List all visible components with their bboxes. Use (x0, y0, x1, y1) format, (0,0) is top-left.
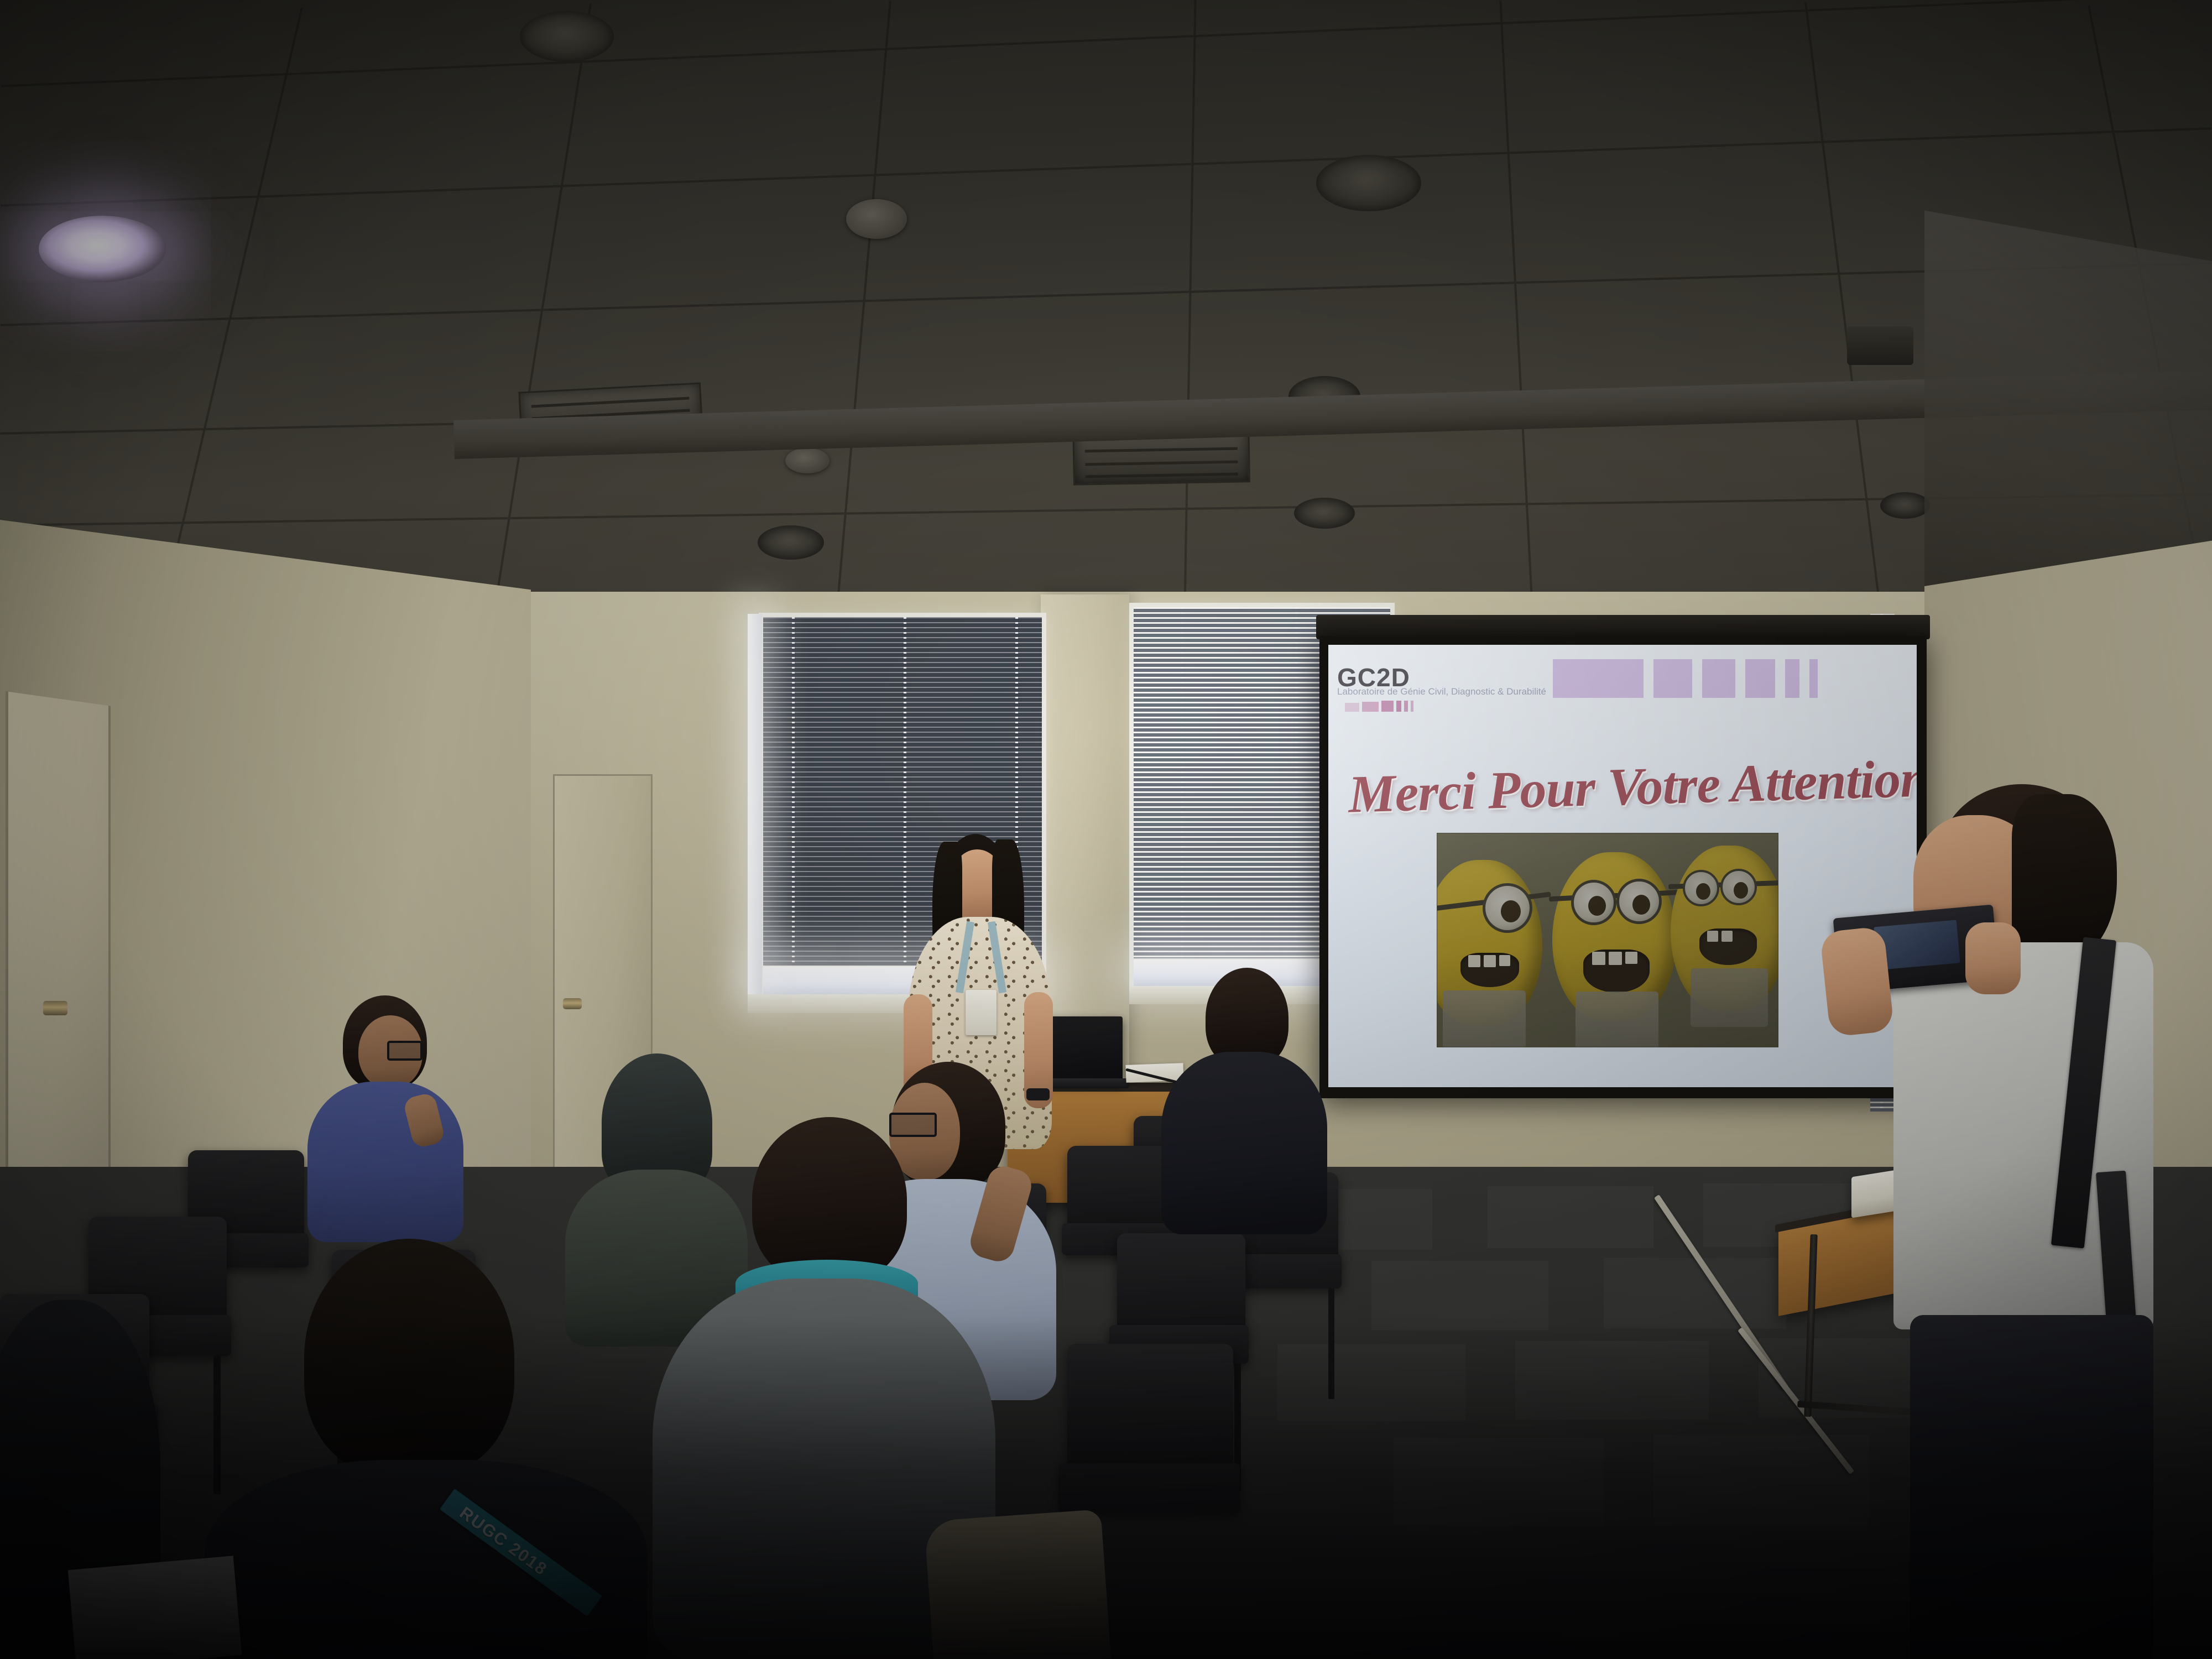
attendee-blue-shirt (305, 995, 466, 1228)
chair[interactable] (1067, 1344, 1233, 1477)
attendee-hair (304, 1239, 514, 1477)
ceiling-downlight-lit (39, 216, 166, 282)
chair-seat[interactable] (1058, 1463, 1240, 1513)
door-handle[interactable] (563, 998, 582, 1009)
presentation-slide: GC2D Laboratoire de Génie Civil, Diagnos… (1328, 645, 1917, 1087)
chair-leg (1328, 1288, 1334, 1399)
videographer-hand-left (1819, 926, 1894, 1037)
logo-colour-chips (1345, 701, 1546, 712)
door-handle[interactable] (43, 1001, 67, 1015)
videographer-hair-back (2012, 794, 2117, 960)
person-filming (1881, 784, 2191, 1659)
ceiling-tile-grid (0, 0, 2212, 641)
presentation-room-photo: GC2D Laboratoire de Génie Civil, Diagnos… (0, 0, 2212, 1659)
ceiling-downlight-off (1880, 492, 1930, 519)
videographer-trousers (1910, 1315, 2153, 1659)
attendee-top (205, 1460, 647, 1659)
attendee-dark-jacket (1156, 968, 1333, 1228)
attendee-jacket (1161, 1052, 1327, 1234)
videographer-hand-right (1965, 922, 2021, 994)
window-left-edge-glow (748, 614, 762, 995)
speaker-badge (966, 990, 997, 1035)
slide-logo: GC2D Laboratoire de Génie Civil, Diagnos… (1337, 665, 1546, 712)
attendee-glasses-icon (387, 1041, 422, 1061)
smoke-detector (846, 199, 907, 239)
ceiling-downlight-off (1294, 498, 1355, 529)
ceiling-downlight-off (758, 525, 824, 560)
attendee-khaki-leg (924, 1509, 1111, 1659)
ceiling-downlight-off (1316, 155, 1421, 211)
slide-image-minions (1437, 833, 1778, 1047)
slide-title: Merci Pour Votre Attention (1348, 747, 1917, 825)
projector-ceiling-mount (1847, 326, 1913, 365)
chair[interactable] (1117, 1233, 1245, 1337)
smoke-detector (785, 448, 830, 473)
attendee-shirt (307, 1082, 463, 1242)
attendee-hair (752, 1117, 907, 1283)
programme-paper (68, 1556, 242, 1659)
slide-banner-bars (1553, 659, 1818, 698)
ceiling-downlight-off (520, 11, 614, 62)
attendee-front-lanyard: RUGC 2018 (205, 1239, 647, 1659)
logo-subtitle: Laboratoire de Génie Civil, Diagnostic &… (1337, 687, 1546, 696)
